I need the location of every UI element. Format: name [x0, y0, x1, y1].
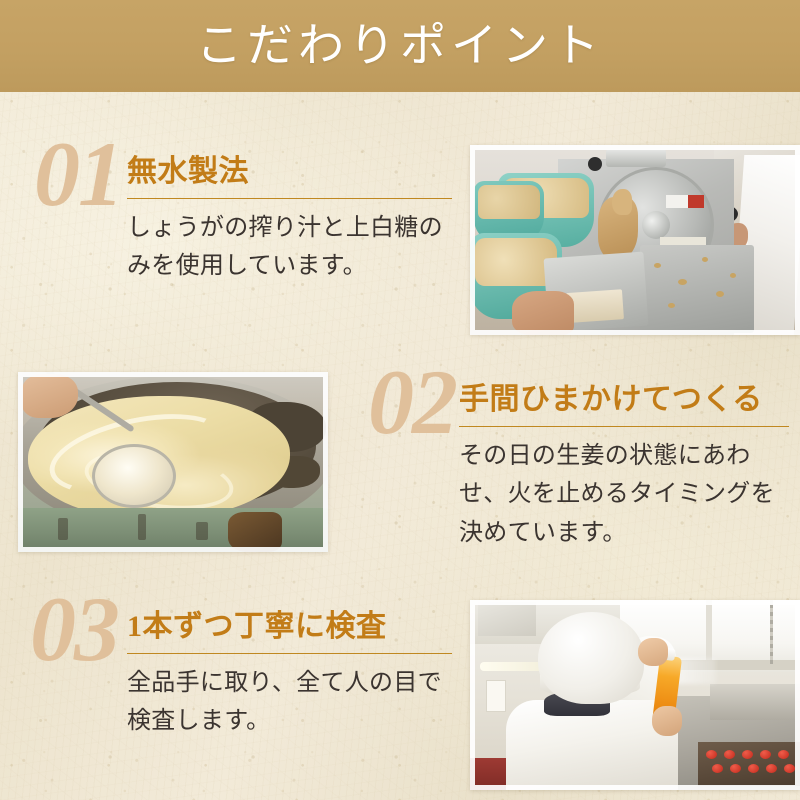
page-header-banner: こだわりポイント: [0, 0, 800, 92]
photo-bottle-inspection: [470, 600, 800, 790]
section-number-03: 03: [30, 583, 118, 675]
page-title: こだわりポイント: [196, 23, 604, 69]
section-text-block-02: 手間ひまかけてつくる その日の生姜の状態にあわせ、火を止めるタイミングを決めてい…: [459, 383, 789, 553]
section-text-block-03: 1本ずつ丁寧に検査 全品手に取り、全て人の目で検査します。: [127, 610, 452, 741]
section-heading-02: 手間ひまかけてつくる: [459, 383, 789, 417]
section-body-03: 全品手に取り、全て人の目で検査します。: [127, 664, 452, 742]
section-heading-03: 1本ずつ丁寧に検査: [127, 610, 452, 644]
heading-rule-02: [459, 426, 789, 427]
heading-rule-01: [127, 198, 452, 199]
section-body-02: その日の生姜の状態にあわせ、火を止めるタイミングを決めています。: [459, 437, 789, 554]
heading-rule-03: [127, 653, 452, 654]
kodawari-points-page: こだわりポイント 01 無水製法 しょうがの搾り汁と上白糖のみを使用しています。: [0, 0, 800, 800]
photo-ginger-slicer: [470, 145, 800, 335]
section-text-block-01: 無水製法 しょうがの搾り汁と上白糖のみを使用しています。: [127, 155, 452, 286]
photo-syrup-pan: [18, 372, 328, 552]
section-number-02: 02: [368, 356, 456, 448]
section-body-01: しょうがの搾り汁と上白糖のみを使用しています。: [127, 209, 452, 287]
section-number-01: 01: [34, 128, 122, 220]
section-heading-01: 無水製法: [127, 155, 452, 189]
